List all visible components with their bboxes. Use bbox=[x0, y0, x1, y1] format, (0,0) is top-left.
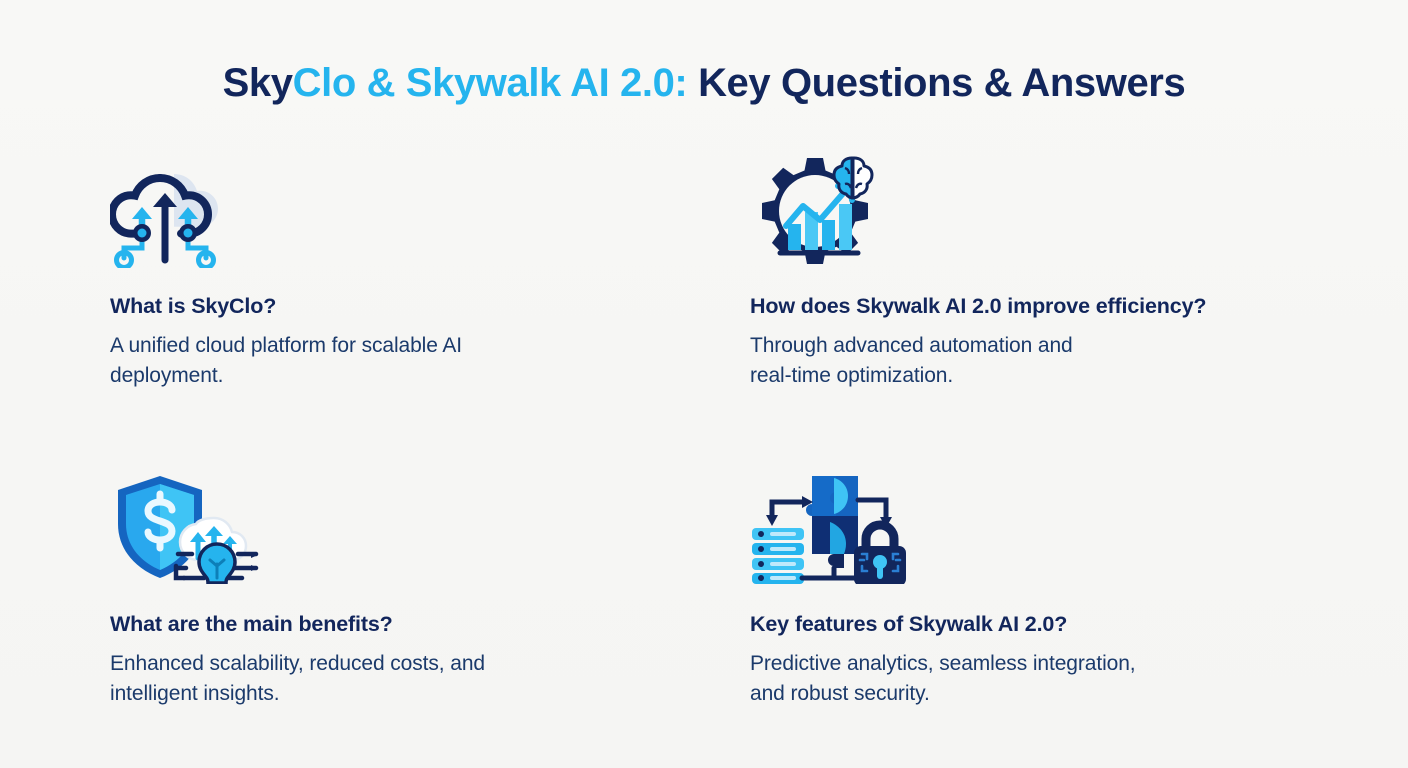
faq-question: Key features of Skywalk AI 2.0? bbox=[750, 612, 1328, 638]
faq-answer: A unified cloud platform for scalable AI… bbox=[110, 331, 630, 392]
faq-answer: Enhanced scalability, reduced costs, and… bbox=[110, 649, 630, 710]
infographic-page: SkyClo & Skywalk AI 2.0: Key Questions &… bbox=[0, 0, 1408, 768]
faq-question: What is SkyClo? bbox=[110, 294, 712, 320]
faq-card-what-is-skyclo: What is SkyClo? A unified cloud platform… bbox=[96, 150, 736, 460]
page-title-segment-navy-first: Sky bbox=[223, 61, 293, 105]
server-puzzle-lock-icon bbox=[750, 460, 1328, 584]
faq-answer: Predictive analytics, seamless integrati… bbox=[750, 649, 1290, 710]
faq-card-efficiency: How does Skywalk AI 2.0 improve efficien… bbox=[736, 150, 1352, 460]
page-title-segment-cyan: Clo & Skywalk AI 2.0: bbox=[293, 61, 688, 105]
faq-card-key-features: Key features of Skywalk AI 2.0? Predicti… bbox=[736, 460, 1352, 750]
faq-question: What are the main benefits? bbox=[110, 612, 712, 638]
cloud-upload-ai-icon bbox=[110, 150, 712, 268]
shield-dollar-cloud-bulb-icon bbox=[110, 460, 712, 584]
page-title-segment-navy-second: Key Questions & Answers bbox=[687, 61, 1185, 105]
faq-card-benefits: What are the main benefits? Enhanced sca… bbox=[96, 460, 736, 750]
faq-answer: Through advanced automation and real-tim… bbox=[750, 331, 1290, 392]
faq-card-grid: What is SkyClo? A unified cloud platform… bbox=[96, 150, 1352, 750]
faq-question: How does Skywalk AI 2.0 improve efficien… bbox=[750, 294, 1328, 320]
gear-chart-brain-icon bbox=[750, 150, 1328, 268]
title-container: SkyClo & Skywalk AI 2.0: Key Questions &… bbox=[0, 60, 1408, 106]
page-title: SkyClo & Skywalk AI 2.0: Key Questions &… bbox=[0, 60, 1408, 106]
